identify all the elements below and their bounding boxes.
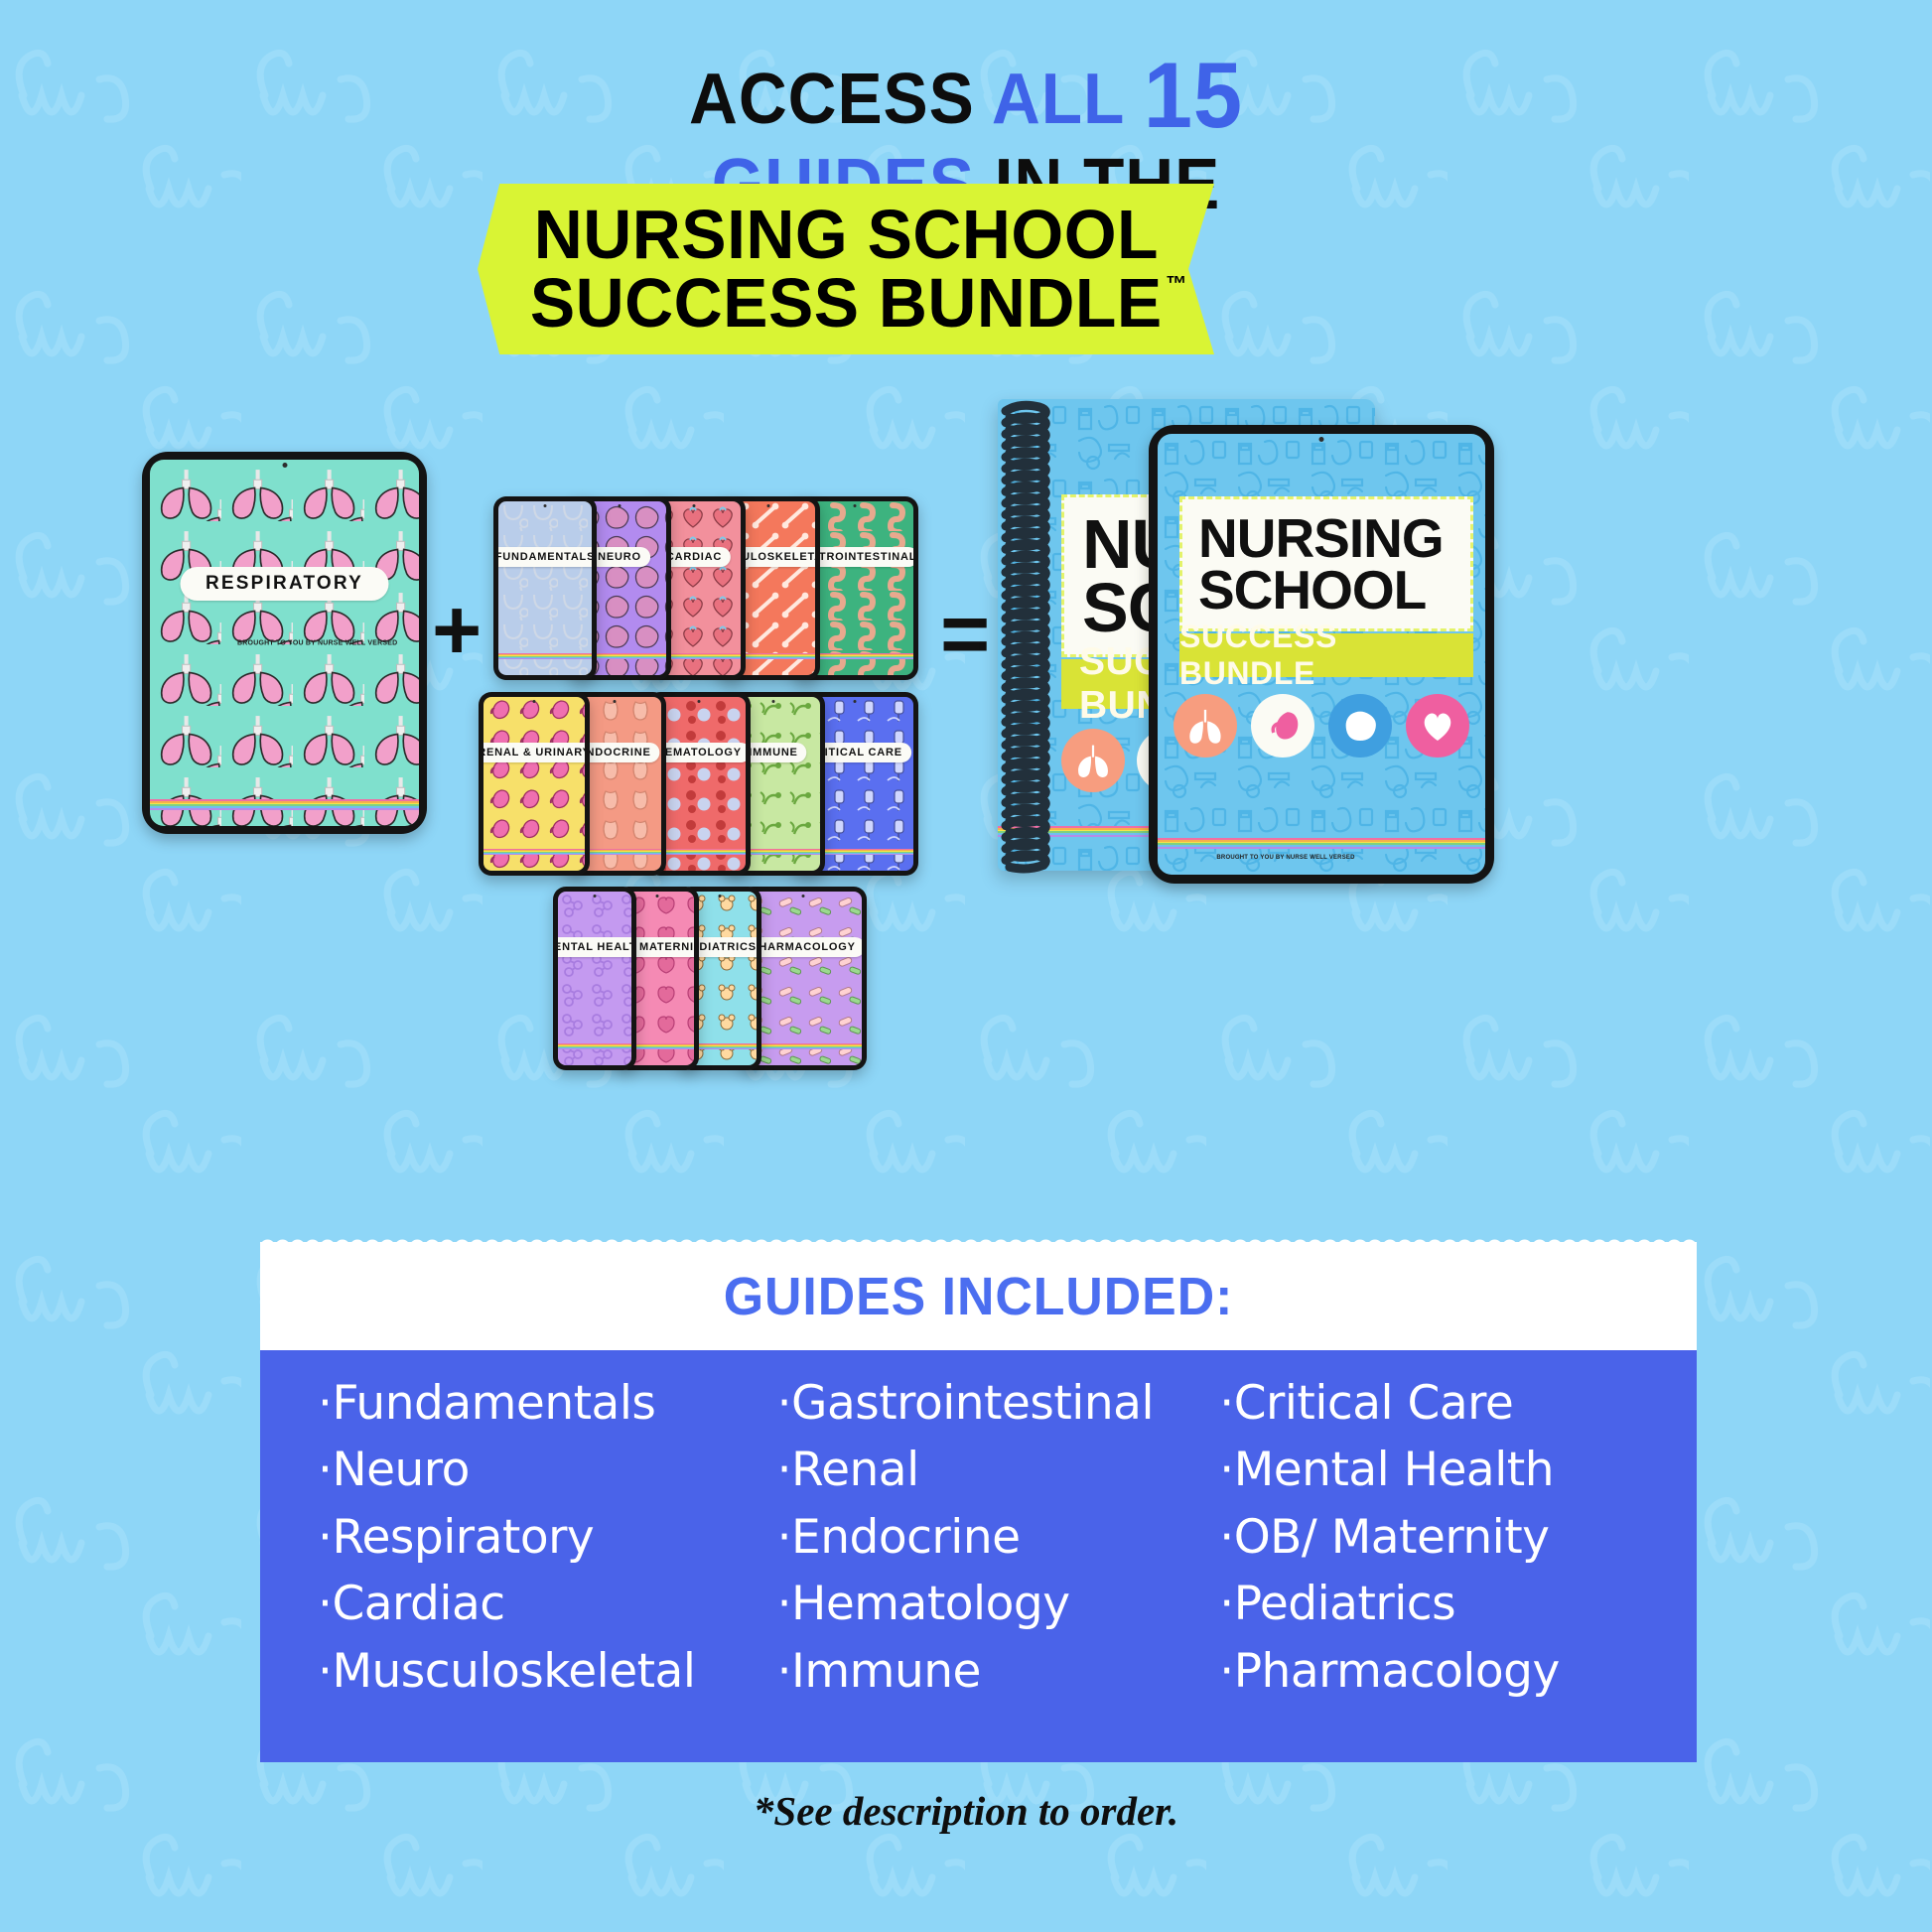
brand-credit-text: BROUGHT TO YOU BY NURSE WELL VERSED <box>1216 855 1354 861</box>
bundle-title-line-1: NURSING <box>1198 512 1470 564</box>
ribbon-line-1: NURSING SCHOOL <box>533 201 1158 269</box>
guide-list-item: ·OB/ Maternity <box>1219 1506 1639 1569</box>
brand-rainbow-stripe <box>498 653 592 659</box>
stethoscope-pattern <box>498 501 592 675</box>
guide-list-item: ·Pediatrics <box>1219 1573 1639 1635</box>
molecule-pattern <box>558 892 631 1065</box>
guide-list-item: ·Respiratory <box>318 1506 771 1569</box>
respiratory-title-pill: RESPIRATORY <box>180 567 389 601</box>
bloodcell-pattern <box>652 697 746 871</box>
tablet-camera-dot <box>719 895 722 897</box>
tablet-camera-dot <box>282 463 287 468</box>
guides-column-3: ·Critical Care·Mental Health·OB/ Materni… <box>1219 1372 1639 1762</box>
brand-rainbow-stripe <box>652 849 746 855</box>
bundle-rainbow-stripe <box>1158 838 1485 849</box>
header-access-word: ACCESS <box>689 60 992 139</box>
tablet-camera-dot <box>619 504 621 507</box>
tablet-camera-dot <box>614 700 617 703</box>
guide-list-item: ·Renal <box>777 1439 1214 1501</box>
brand-credit-text: BROUGHT TO YOU BY NURSE WELL VERSED <box>237 639 397 646</box>
guide-title-pill: RENAL & URINARY <box>483 743 585 762</box>
brand-rainbow-stripe <box>558 1043 631 1049</box>
lungs-icon <box>1173 694 1237 758</box>
guides-included-list: ·Fundamentals·Neuro·Respiratory·Cardiac·… <box>260 1350 1697 1762</box>
guide-title-pill: HEMATOLOGY <box>652 743 746 762</box>
guide-list-item: ·Hematology <box>777 1573 1214 1635</box>
guide-list-item: ·Fundamentals <box>318 1372 771 1435</box>
guide-list-item: ·Neuro <box>318 1439 771 1501</box>
guide-list-item: ·Immune <box>777 1640 1214 1703</box>
tablet-camera-dot <box>1319 437 1324 442</box>
tablet-camera-dot <box>594 895 597 897</box>
guide-list-item: ·Gastrointestinal <box>777 1372 1214 1435</box>
guides-included-title: GUIDES INCLUDED: <box>724 1266 1234 1327</box>
guides-column-2: ·Gastrointestinal·Renal·Endocrine·Hemato… <box>777 1372 1214 1762</box>
plus-operator: + <box>432 588 482 673</box>
guides-included-header: GUIDES INCLUDED: <box>260 1242 1697 1350</box>
bundle-subtitle-text: SUCCESS BUNDLE <box>1179 619 1473 692</box>
guide-title-pill: PHARMACOLOGY <box>745 937 862 957</box>
guide-title-pill: NEURO <box>589 547 650 567</box>
guide-list-item: ·Musculoskeletal <box>318 1640 771 1703</box>
tablet-camera-dot <box>802 895 805 897</box>
respiratory-guide-tablet[interactable]: RESPIRATORY BROUGHT TO YOU BY NURSE WELL… <box>142 452 427 834</box>
tablet-camera-dot <box>854 700 857 703</box>
guide-list-item: ·Endocrine <box>777 1506 1214 1569</box>
bundle-title-line-2: SCHOOL <box>1198 564 1470 616</box>
bundle-cover-tablet[interactable]: NURSING SCHOOL SUCCESS BUNDLE <box>1149 425 1494 884</box>
ribbon-line-2-text: SUCCESS BUNDLE <box>530 264 1163 342</box>
bundle-title-box: NURSING SCHOOL <box>1179 496 1473 631</box>
lungs-icon <box>1061 729 1125 792</box>
tablet-camera-dot <box>533 700 536 703</box>
trademark-symbol: ™ <box>1166 273 1187 295</box>
bundle-organ-icons <box>1158 694 1485 758</box>
bundle-subtitle-banner: SUCCESS BUNDLE <box>1179 633 1473 677</box>
brain-icon <box>1328 694 1392 758</box>
pill-pattern <box>745 892 862 1065</box>
bundle-title-ribbon: NURSING SCHOOL SUCCESS BUNDLE™ <box>478 184 1214 354</box>
tablet-camera-dot <box>544 504 547 507</box>
brand-rainbow-stripe <box>745 1043 862 1049</box>
footnote-text: *See description to order. <box>0 1787 1932 1835</box>
scallop-edge-top <box>260 1236 1697 1247</box>
guide-list-item: ·Cardiac <box>318 1573 771 1635</box>
guide-tablet-mental-health[interactable]: MENTAL HEALTH <box>553 887 636 1070</box>
header-line-1: ACCESS ALL 15 <box>58 48 1873 143</box>
tablet-camera-dot <box>698 700 701 703</box>
header-count-15: 15 <box>1144 43 1243 147</box>
guide-title-pill: FUNDAMENTALS <box>498 547 592 567</box>
guide-list-item: ·Pharmacology <box>1219 1640 1639 1703</box>
guide-tablet-fundamentals[interactable]: FUNDAMENTALS <box>493 496 597 680</box>
guides-column-1: ·Fundamentals·Neuro·Respiratory·Cardiac·… <box>318 1372 771 1762</box>
guide-list-item: ·Mental Health <box>1219 1439 1639 1501</box>
guide-title-pill: MENTAL HEALTH <box>558 937 631 957</box>
guide-list-item: ·Critical Care <box>1219 1372 1639 1435</box>
ribbon-line-2: SUCCESS BUNDLE™ <box>530 269 1163 338</box>
brand-rainbow-stripe <box>150 799 419 810</box>
spiral-binding-coil <box>996 397 1055 874</box>
tablet-camera-dot <box>854 504 857 507</box>
brand-rainbow-stripe <box>483 849 585 855</box>
kidney-icon <box>1251 694 1314 758</box>
heart-icon <box>1406 694 1469 758</box>
equals-operator: = <box>940 592 990 677</box>
guide-tablet-renal-urinary[interactable]: RENAL & URINARY <box>479 692 590 876</box>
tablet-camera-dot <box>693 504 696 507</box>
tablet-camera-dot <box>772 700 775 703</box>
tablet-camera-dot <box>656 895 659 897</box>
header-all-word: ALL <box>992 60 1144 139</box>
kidney-pattern <box>483 697 585 871</box>
tablet-camera-dot <box>767 504 770 507</box>
